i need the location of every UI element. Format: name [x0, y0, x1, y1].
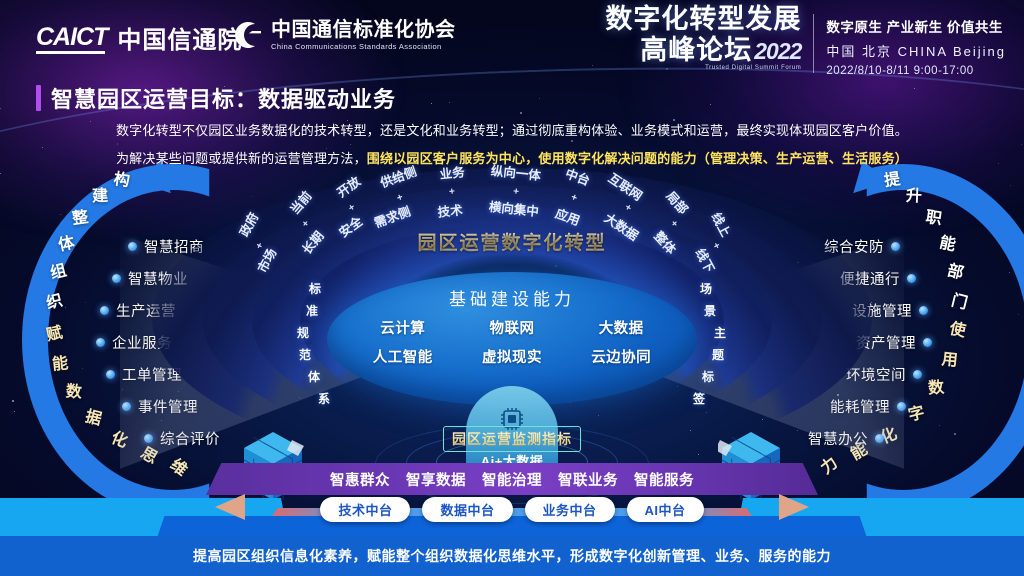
page-title-text: 智慧园区运营目标：数据驱动业务: [51, 82, 396, 114]
caict-name-cn: 中国信通院: [117, 20, 242, 55]
event-title-line2-row: 高峰论坛 2022: [640, 37, 801, 64]
ccsa-logo: 中国通信标准化协会 China Communications Standards…: [228, 18, 456, 52]
platform-pill[interactable]: 业务中台: [525, 497, 615, 522]
arc-plus-sign: +: [449, 186, 456, 198]
service-goal-item[interactable]: 智联业务: [558, 469, 618, 490]
standards-caption-char: 系: [318, 390, 330, 407]
scenario-caption-char: 场: [700, 280, 712, 297]
scenario-caption-char: 主: [714, 324, 726, 341]
ccsa-name-en: China Communications Standards Associati…: [271, 43, 456, 51]
scenario-caption-char: 题: [712, 346, 724, 363]
ccsa-name-cn: 中国通信标准化协会: [271, 20, 456, 41]
event-datetime: 2022/8/10-8/11 9:00-17:00: [826, 65, 1006, 77]
arrow-right-icon: [215, 494, 245, 520]
event-meta-block: 数字原生 产业新生 价值共生 中国 北京 CHINA Beijing 2022/…: [826, 6, 1006, 77]
arc-pair-label: 技术: [437, 199, 464, 221]
event-title-main: 数字化转型发展 高峰论坛 2022 Trusted Digital Summit…: [605, 6, 801, 71]
core-title: 基础建设能力: [327, 285, 697, 310]
core-cell: 云计算: [380, 317, 425, 338]
hub-label: 园区运营监测指标: [443, 426, 581, 452]
subtitle-line-2-highlight: 围绕以园区客户服务为中心，使用数字化解决问题的能力（管理决策、生产运营、生活服务…: [367, 151, 908, 166]
header-divider: [813, 14, 814, 73]
page-title: 智慧园区运营目标：数据驱动业务: [36, 82, 396, 114]
platform-pill[interactable]: 数据中台: [422, 497, 512, 522]
footer-text: 提高园区组织信息化素养，赋能整个组织数据化思维水平，形成数字化创新管理、业务、服…: [193, 546, 831, 566]
diagram-center: 政府市场+当前长期+开放安全+供给侧需求侧+业务技术+ 纵向一体横向集中+中台应…: [0, 168, 1024, 498]
platform-pill[interactable]: AI中台: [627, 497, 704, 522]
event-title-block: 数字化转型发展 高峰论坛 2022 Trusted Digital Summit…: [605, 6, 1006, 77]
dome-band-title: 园区运营数字化转型: [417, 228, 606, 255]
standards-caption-char: 准: [306, 302, 318, 319]
caict-logo: CAICT 中国信通院: [36, 20, 242, 55]
core-cell: 人工智能: [373, 346, 433, 367]
subtitle-line-2: 为解决某些问题或提供新的运营管理方法，围绕以园区客户服务为中心，使用数字化解决问…: [0, 148, 1024, 167]
standards-caption-char: 范: [299, 346, 311, 363]
event-location: 中国 北京 CHINA Beijing: [826, 41, 1006, 60]
standards-caption-char: 规: [297, 324, 309, 341]
slide-canvas: CAICT 中国信通院 中国通信标准化协会 China Communicatio…: [0, 0, 1024, 576]
scenario-caption-char: 景: [704, 302, 716, 319]
arc-plus-sign: +: [513, 186, 520, 198]
core-cell: 大数据: [599, 317, 644, 338]
core-capability-grid: 云计算 人工智能 物联网 虚拟现实 大数据 云边协同: [349, 317, 675, 367]
platform-pill-row: 技术中台数据中台业务中台AI中台: [0, 497, 1024, 522]
core-cell: 虚拟现实: [482, 346, 542, 367]
header-bar: CAICT 中国信通院 中国通信标准化协会 China Communicatio…: [0, 0, 1024, 72]
footer-band: 提高园区组织信息化素养，赋能整个组织数据化思维水平，形成数字化创新管理、业务、服…: [0, 536, 1024, 576]
ccsa-swoosh-icon: [228, 18, 262, 52]
standards-caption-char: 体: [308, 368, 320, 385]
service-goal-bar: 智惠群众智享数据智能治理智联业务智能服务: [206, 463, 818, 495]
event-year: 2022: [754, 40, 801, 63]
ccsa-text-block: 中国通信标准化协会 China Communications Standards…: [271, 20, 456, 51]
core-cell: 物联网: [489, 317, 534, 338]
event-slogan: 数字原生 产业新生 价值共生: [826, 16, 1006, 36]
platform-pill[interactable]: 技术中台: [320, 497, 410, 522]
event-title-en: Trusted Digital Summit Forum: [705, 65, 801, 71]
service-goal-item[interactable]: 智惠群众: [330, 469, 390, 490]
service-goal-item[interactable]: 智享数据: [406, 469, 466, 490]
scenario-caption-char: 标: [702, 368, 714, 385]
arrow-left-icon: [779, 494, 809, 520]
title-accent-bar: [36, 85, 41, 111]
service-goal-item[interactable]: 智能治理: [482, 469, 542, 490]
subtitle-line-2-plain: 为解决某些问题或提供新的运营管理方法，: [116, 151, 367, 166]
core-column: 云计算 人工智能: [349, 317, 457, 367]
subtitle-line-1: 数字化转型不仅园区业务数据化的技术转型，还是文化和业务转型；通过彻底重构体验、业…: [0, 120, 1024, 139]
core-column: 物联网 虚拟现实: [458, 317, 566, 367]
scenario-caption-char: 签: [693, 390, 705, 407]
core-cell: 云边协同: [591, 346, 651, 367]
standards-caption-char: 标: [309, 280, 321, 297]
caict-acronym: CAICT: [36, 25, 107, 50]
event-title-line2: 高峰论坛: [640, 37, 752, 64]
service-goal-item[interactable]: 智能服务: [634, 469, 694, 490]
core-column: 大数据 云边协同: [567, 317, 675, 367]
event-title-line1: 数字化转型发展: [605, 6, 801, 33]
